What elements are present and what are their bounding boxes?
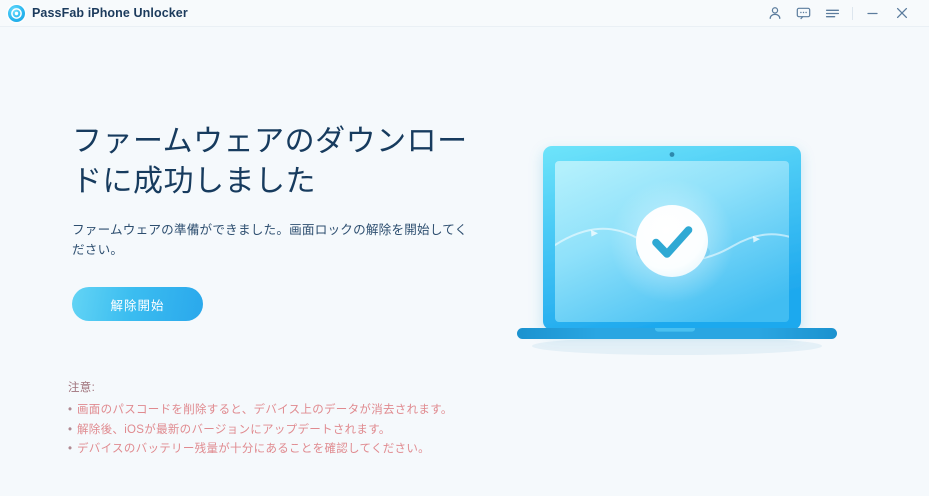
title-bar: PassFab iPhone Unlocker: [0, 0, 929, 27]
title-bar-left: PassFab iPhone Unlocker: [0, 5, 188, 22]
page-subtitle: ファームウェアの準備ができました。画面ロックの解除を開始してください。: [72, 220, 472, 260]
illustration-shadow: [532, 337, 822, 355]
note-text: 解除後、iOSが最新のバージョンにアップデートされます。: [77, 424, 391, 436]
menu-icon[interactable]: [818, 0, 847, 27]
list-item: •デバイスのバッテリー残量が十分にあることを確認してください。: [68, 440, 538, 460]
page-title: ファームウェアのダウンロードに成功しました: [72, 122, 472, 202]
notes-title: 注意:: [68, 379, 538, 395]
note-text: 画面のパスコードを削除すると、デバイス上のデータが消去されます。: [77, 404, 453, 416]
titlebar-divider: [852, 7, 853, 20]
bullet-marker: •: [68, 440, 77, 460]
notes-section: 注意: •画面のパスコードを削除すると、デバイス上のデータが消去されます。 •解…: [68, 379, 538, 460]
list-item: •画面のパスコードを削除すると、デバイス上のデータが消去されます。: [68, 401, 538, 421]
bullet-marker: •: [68, 401, 77, 421]
laptop-camera-icon: [670, 152, 675, 157]
note-text: デバイスのバッテリー残量が十分にあることを確認してください。: [77, 443, 430, 455]
title-bar-controls: [760, 0, 929, 27]
start-unlock-button[interactable]: 解除開始: [72, 287, 203, 321]
minimize-icon[interactable]: [858, 0, 887, 27]
list-item: •解除後、iOSが最新のバージョンにアップデートされます。: [68, 421, 538, 441]
laptop-trackpad-notch: [655, 328, 695, 332]
close-icon[interactable]: [887, 0, 916, 27]
bullet-marker: •: [68, 421, 77, 441]
main-content: ファームウェアのダウンロードに成功しました ファームウェアの準備ができました。画…: [72, 122, 492, 321]
account-icon[interactable]: [760, 0, 789, 27]
app-title: PassFab iPhone Unlocker: [32, 6, 188, 20]
feedback-icon[interactable]: [789, 0, 818, 27]
passfab-logo-icon: [8, 5, 25, 22]
laptop-success-illustration: [487, 128, 867, 363]
